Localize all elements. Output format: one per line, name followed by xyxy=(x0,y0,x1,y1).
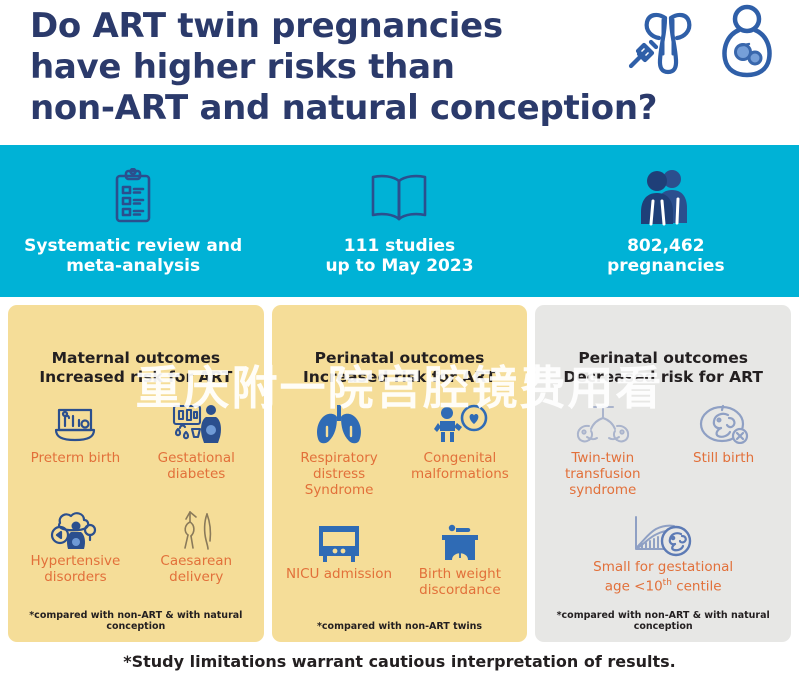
outcome-item-congenital-malformations: Congenital malformations xyxy=(401,401,520,518)
open-book-icon xyxy=(368,166,430,228)
uterus-syringe-ivf-icon xyxy=(625,4,711,83)
outcome-label: Preterm birth xyxy=(31,450,121,466)
panel-title-line-1: Maternal outcomes xyxy=(16,349,256,368)
two-people-icon xyxy=(640,166,692,228)
stat-line-2: meta-analysis xyxy=(24,256,242,276)
panel-items: Preterm birth xyxy=(16,401,256,610)
stat-line-1: 802,462 xyxy=(607,236,724,256)
header: Do ART twin pregnancies have higher risk… xyxy=(0,0,799,145)
headline-line-2: have higher risks than xyxy=(30,47,610,88)
outcome-label: Twin-twin transfusion syndrome xyxy=(545,450,660,498)
panel-title-line-1: Perinatal outcomes xyxy=(543,349,783,368)
infographic-page: Do ART twin pregnancies have higher risk… xyxy=(0,0,799,684)
panel-title: Perinatal outcomes Decreased risk for AR… xyxy=(543,349,783,387)
panel-title-line-2: Increased risk for ART xyxy=(16,368,256,387)
panel-title: Maternal outcomes Increased risk for ART xyxy=(16,349,256,387)
outcome-item-twin-twin-transfusion: Twin-twin transfusion syndrome xyxy=(543,401,662,511)
preterm-birth-incubator-icon xyxy=(51,401,99,447)
twin-fetuses-shared-placenta-icon xyxy=(571,401,635,447)
panel-footnote: *compared with non-ART twins xyxy=(280,621,520,636)
outcome-label: Congenital malformations xyxy=(403,450,518,482)
stat-label: 111 studies up to May 2023 xyxy=(325,236,473,276)
clipboard-checklist-icon xyxy=(110,166,156,228)
pregnant-woman-icon xyxy=(717,4,777,83)
outcome-label: Birth weight discordance xyxy=(403,566,518,598)
footer-disclaimer: *Study limitations warrant cautious inte… xyxy=(123,652,676,671)
outcome-item-caesarean-delivery: Caesarean delivery xyxy=(137,507,256,611)
panel-title-line-1: Perinatal outcomes xyxy=(280,349,520,368)
panel-items: Respiratory distress Syndrome xyxy=(280,401,520,621)
baby-heart-icon xyxy=(432,401,488,447)
outcome-panels: Maternal outcomes Increased risk for ART xyxy=(0,297,799,642)
panel-title-line-2: Increased risk for ART xyxy=(280,368,520,387)
stat-line-2: up to May 2023 xyxy=(325,256,473,276)
stat-label: Systematic review and meta-analysis xyxy=(24,236,242,276)
stat-systematic-review: Systematic review and meta-analysis xyxy=(0,166,266,276)
outcome-item-gestational-diabetes: Gestational diabetes xyxy=(137,401,256,505)
outcome-item-still-birth: Still birth xyxy=(664,401,783,511)
baby-weighing-scale-icon xyxy=(436,520,484,566)
panel-perinatal-decreased: Perinatal outcomes Decreased risk for AR… xyxy=(535,305,791,642)
hypertensive-disorders-icon xyxy=(48,507,102,553)
outcome-label: Respiratory distress Syndrome xyxy=(282,450,397,498)
panel-title-line-2: Decreased risk for ART xyxy=(543,368,783,387)
stat-line-1: 111 studies xyxy=(325,236,473,256)
outcome-label: Still birth xyxy=(693,450,754,466)
outcome-item-respiratory-distress: Respiratory distress Syndrome xyxy=(280,401,399,518)
growth-chart-fetus-icon xyxy=(626,513,700,559)
outcome-item-preterm-birth: Preterm birth xyxy=(16,401,135,505)
headline-line-1: Do ART twin pregnancies xyxy=(30,6,610,47)
outcome-item-birth-weight-discordance: Birth weight discordance xyxy=(401,520,520,621)
outcome-label: Hypertensive disorders xyxy=(18,553,133,585)
header-icon-group xyxy=(625,4,777,83)
panel-perinatal-increased: Perinatal outcomes Increased risk for AR… xyxy=(272,305,528,642)
outcome-item-hypertensive-disorders: Hypertensive disorders xyxy=(16,507,135,611)
stats-band: Systematic review and meta-analysis 111 … xyxy=(0,145,799,297)
outcome-label: Small for gestationalage <10th centile xyxy=(593,559,733,595)
lungs-icon xyxy=(313,401,365,447)
panel-footnote: *compared with non-ART & with natural co… xyxy=(16,610,256,636)
stat-line-2: pregnancies xyxy=(607,256,724,276)
outcome-label: Caesarean delivery xyxy=(139,553,254,585)
outcome-label: Gestational diabetes xyxy=(139,450,254,482)
page-title: Do ART twin pregnancies have higher risk… xyxy=(30,6,610,129)
panel-maternal-outcomes: Maternal outcomes Increased risk for ART xyxy=(8,305,264,642)
caesarean-delivery-icon xyxy=(174,507,218,553)
stillbirth-fetus-cross-icon xyxy=(698,401,750,447)
gestational-diabetes-icon xyxy=(170,401,222,447)
stat-label: 802,462 pregnancies xyxy=(607,236,724,276)
outcome-item-small-for-gestational-age: Small for gestationalage <10th centile xyxy=(543,513,783,610)
outcome-item-nicu-admission: NICU admission xyxy=(280,520,399,621)
headline-line-3: non-ART and natural conception? xyxy=(30,88,610,129)
nicu-incubator-icon xyxy=(313,520,365,566)
panel-title: Perinatal outcomes Increased risk for AR… xyxy=(280,349,520,387)
footer: *Study limitations warrant cautious inte… xyxy=(0,642,799,681)
outcome-label: NICU admission xyxy=(286,566,392,582)
stat-pregnancies-count: 802,462 pregnancies xyxy=(533,166,799,276)
panel-footnote: *compared with non-ART & with natural co… xyxy=(543,610,783,636)
stat-studies-count: 111 studies up to May 2023 xyxy=(266,166,532,276)
panel-items: Twin-twin transfusion syndrome xyxy=(543,401,783,610)
stat-line-1: Systematic review and xyxy=(24,236,242,256)
